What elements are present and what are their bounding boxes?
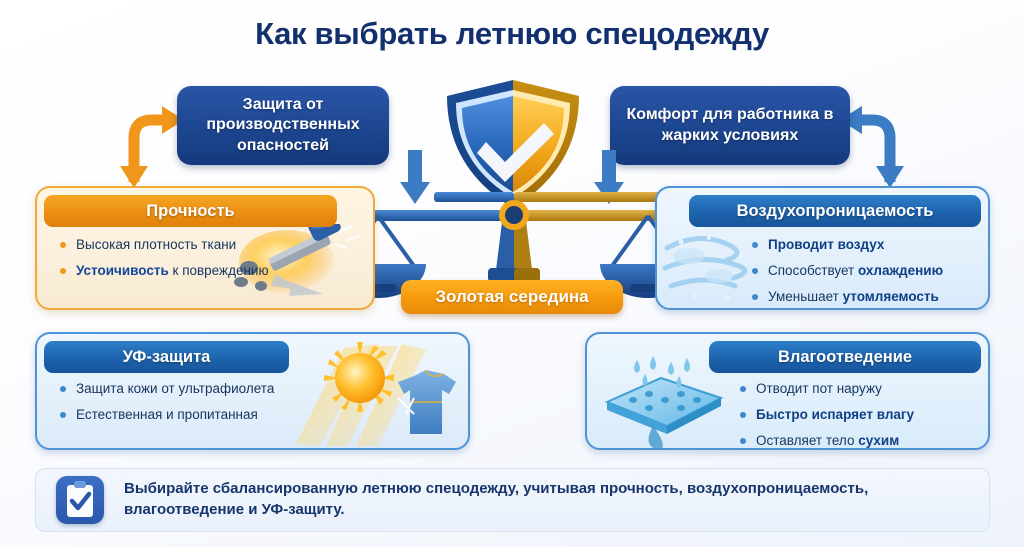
list-item: Быстро испаряет влагу [739, 406, 974, 423]
card-uv-body: Защита кожи от ультрафиолета Естественна… [37, 380, 468, 432]
card-breathability-bullets: Проводит воздух Способствует охлаждению … [751, 236, 974, 305]
card-moisture-bullets: Отводит пот наружу Быстро испаряет влагу… [739, 380, 974, 449]
flow-arrow-left-icon [88, 104, 184, 190]
list-item: Отводит пот наружу [739, 380, 974, 397]
concept-box-comfort[interactable]: Комфорт для работника в жарких условиях [610, 86, 850, 165]
conclusion-text: Выбирайте сбалансированную летнюю спецод… [124, 479, 989, 520]
card-moisture-body: Отводит пот наружу Быстро испаряет влагу… [587, 380, 988, 450]
list-item: Высокая плотность ткани [59, 236, 361, 253]
list-item: Способствует охлаждению [751, 262, 974, 279]
card-breathability-body: Проводит воздух Способствует охлаждению … [657, 236, 988, 310]
card-uv-bullets: Защита кожи от ультрафиолета Естественна… [59, 380, 456, 423]
clipboard-check-icon [56, 476, 104, 524]
list-item: Естественная и пропитанная [59, 406, 456, 423]
list-item: Защита кожи от ультрафиолета [59, 380, 456, 397]
card-breathability[interactable]: Воздухопроницаемость Проводит воздух Спо… [655, 186, 990, 310]
card-strength-body: Высокая плотность ткани Устоичивость к п… [37, 236, 373, 288]
card-breathability-header: Воздухопроницаемость [689, 195, 981, 227]
conclusion-panel: Выбирайте сбалансированную летнюю спецод… [35, 468, 990, 532]
card-moisture-header: Влагоотведение [709, 341, 981, 373]
flow-arrow-right-icon [840, 104, 936, 190]
golden-middle-badge[interactable]: Золотая середина [401, 280, 623, 314]
infographic-canvas: Как выбрать летнюю спецодежду Защита от … [0, 0, 1024, 547]
concept-box-protection[interactable]: Защита от производственных опасностей [177, 86, 389, 165]
list-item: Устоичивость к повреждению [59, 262, 361, 279]
list-item: Оставляет тело сухим [739, 432, 974, 449]
card-strength-header: Прочность [44, 195, 337, 227]
card-strength[interactable]: Прочность Высокая плотность ткани Устоич… [35, 186, 375, 310]
card-strength-bullets: Высокая плотность ткани Устоичивость к п… [59, 236, 361, 279]
card-moisture-wicking[interactable]: Влагоотведение Отводит пот наружу Быстро… [585, 332, 990, 450]
page-title: Как выбрать летнюю спецодежду [0, 16, 1024, 52]
card-uv-protection[interactable]: УФ-защита Защита кожи от ультрафиолета Е… [35, 332, 470, 450]
card-uv-header: УФ-защита [44, 341, 289, 373]
list-item: Проводит воздух [751, 236, 974, 253]
list-item: Уменьшает утомляемость [751, 288, 974, 305]
